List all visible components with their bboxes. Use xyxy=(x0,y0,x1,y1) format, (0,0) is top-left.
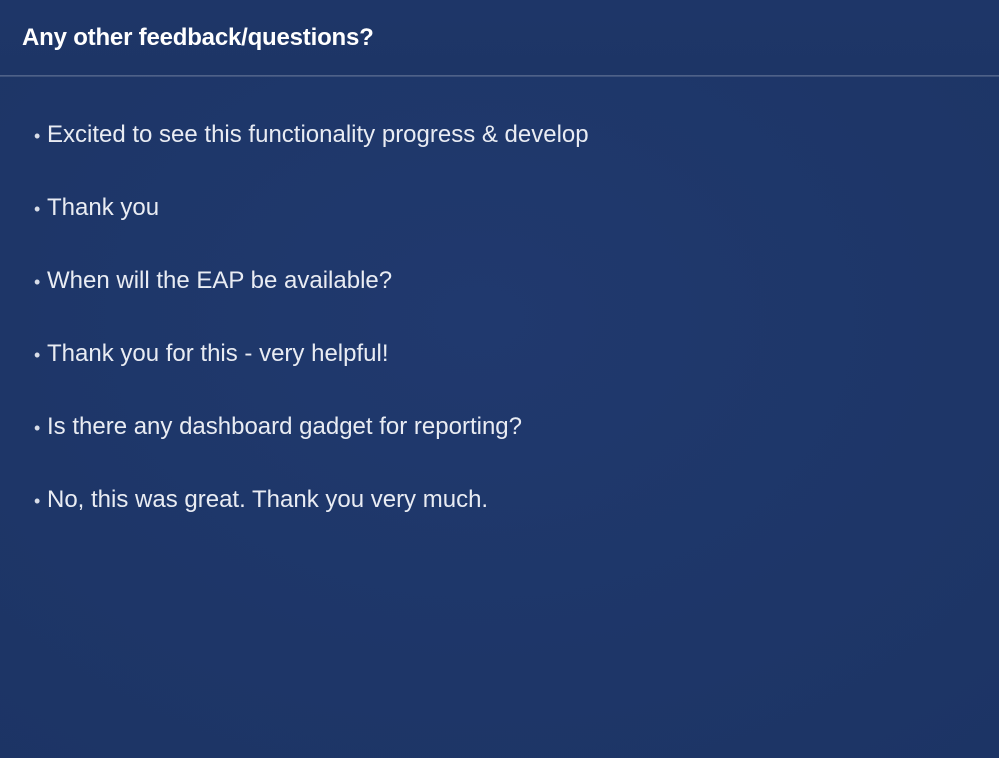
list-item-label: Excited to see this functionality progre… xyxy=(47,121,589,149)
list-item-label: Thank you for this - very helpful! xyxy=(47,340,388,368)
list-item: • No, this was great. Thank you very muc… xyxy=(34,486,971,559)
list-item-label: Is there any dashboard gadget for report… xyxy=(47,413,522,441)
bullet-dot-icon: • xyxy=(34,195,47,223)
list-item: • Thank you xyxy=(34,194,971,267)
slide: Any other feedback/questions? • Excited … xyxy=(0,0,999,758)
list-item-label: Thank you xyxy=(47,194,159,222)
bullet-dot-icon: • xyxy=(34,487,47,515)
list-item: • When will the EAP be available? xyxy=(34,267,971,340)
slide-header: Any other feedback/questions? xyxy=(0,0,999,76)
list-item-label: No, this was great. Thank you very much. xyxy=(47,486,488,514)
bullet-dot-icon: • xyxy=(34,268,47,296)
slide-body: • Excited to see this functionality prog… xyxy=(0,77,999,758)
list-item: • Excited to see this functionality prog… xyxy=(34,121,971,194)
list-item: • Is there any dashboard gadget for repo… xyxy=(34,413,971,486)
list-item: • Thank you for this - very helpful! xyxy=(34,340,971,413)
bullet-dot-icon: • xyxy=(34,414,47,442)
feedback-bullet-list: • Excited to see this functionality prog… xyxy=(34,121,971,559)
bullet-dot-icon: • xyxy=(34,341,47,369)
bullet-dot-icon: • xyxy=(34,122,47,150)
list-item-label: When will the EAP be available? xyxy=(47,267,392,295)
page-title: Any other feedback/questions? xyxy=(22,25,374,51)
